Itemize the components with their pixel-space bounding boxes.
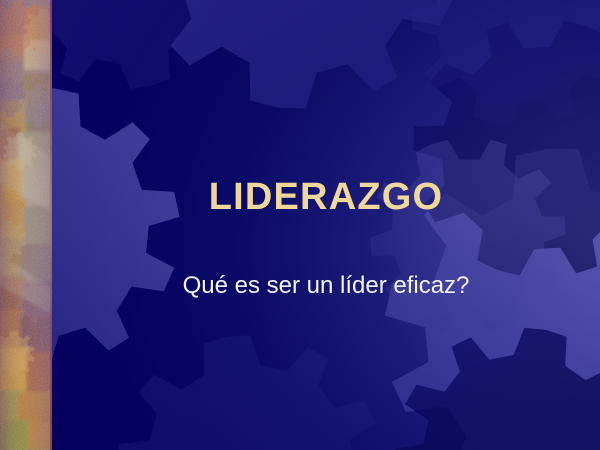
cogwheel-background-motif <box>0 0 600 450</box>
strip-edge-accent <box>50 0 52 450</box>
title-slide: LIDERAZGO Qué es ser un líder eficaz? <box>0 0 600 450</box>
gears-texture-strip <box>0 0 52 450</box>
page-title: LIDERAZGO <box>52 178 600 216</box>
slide-subtitle: Qué es ser un líder eficaz? <box>52 274 600 298</box>
